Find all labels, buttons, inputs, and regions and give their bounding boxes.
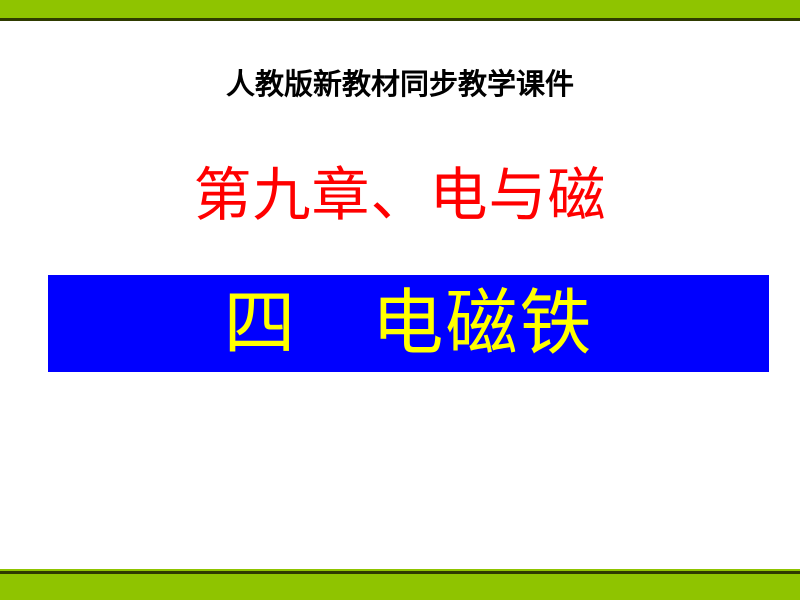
top-green-band: [0, 0, 800, 18]
presentation-slide: 人教版新教材同步教学课件 第九章、电与磁 四 电磁铁: [0, 0, 800, 600]
top-band-rule: [0, 18, 800, 21]
lesson-title-banner: 四 电磁铁: [48, 275, 769, 372]
chapter-title: 第九章、电与磁: [0, 160, 800, 232]
bottom-green-band: [0, 574, 800, 600]
lesson-title: 四 电磁铁: [48, 279, 769, 369]
course-subtitle: 人教版新教材同步教学课件: [0, 66, 800, 104]
